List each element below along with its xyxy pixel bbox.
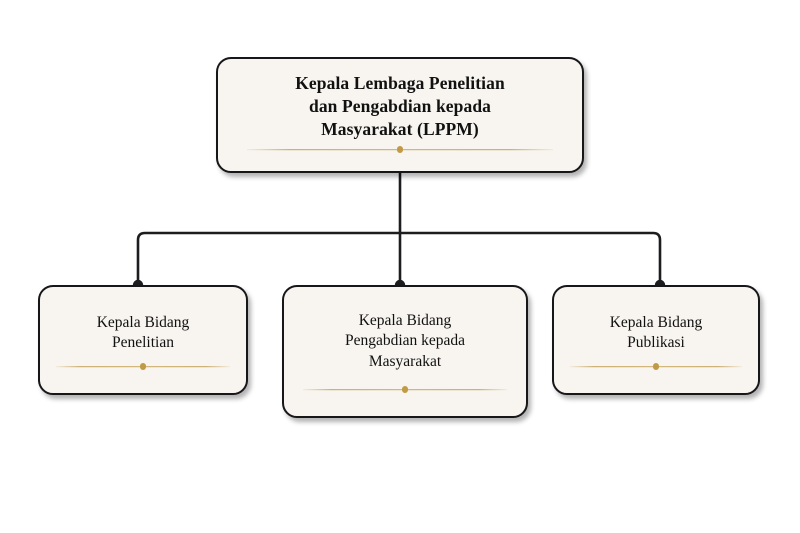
node-kepala-lppm-label: Kepala Lembaga Penelitian dan Pengabdian… [218,72,582,141]
node-divider [247,145,553,154]
divider-dot [402,386,409,393]
node-bidang-penelitian-label: Kepala Bidang Penelitian [40,313,246,354]
node-divider [56,362,229,371]
node-bidang-pengabdian[interactable]: Kepala Bidang Pengabdian kepada Masyarak… [282,285,528,418]
org-chart: Kepala Lembaga Penelitian dan Pengabdian… [0,0,800,533]
divider-dot [140,363,147,370]
node-bidang-publikasi-label: Kepala Bidang Publikasi [554,313,758,354]
node-bidang-penelitian[interactable]: Kepala Bidang Penelitian [38,285,248,395]
node-divider [303,385,506,394]
node-divider [570,362,741,371]
divider-dot [397,146,404,153]
connector-bus [138,233,660,285]
divider-dot [653,363,660,370]
node-bidang-pengabdian-label: Kepala Bidang Pengabdian kepada Masyarak… [284,311,526,372]
node-kepala-lppm[interactable]: Kepala Lembaga Penelitian dan Pengabdian… [216,57,584,173]
node-bidang-publikasi[interactable]: Kepala Bidang Publikasi [552,285,760,395]
